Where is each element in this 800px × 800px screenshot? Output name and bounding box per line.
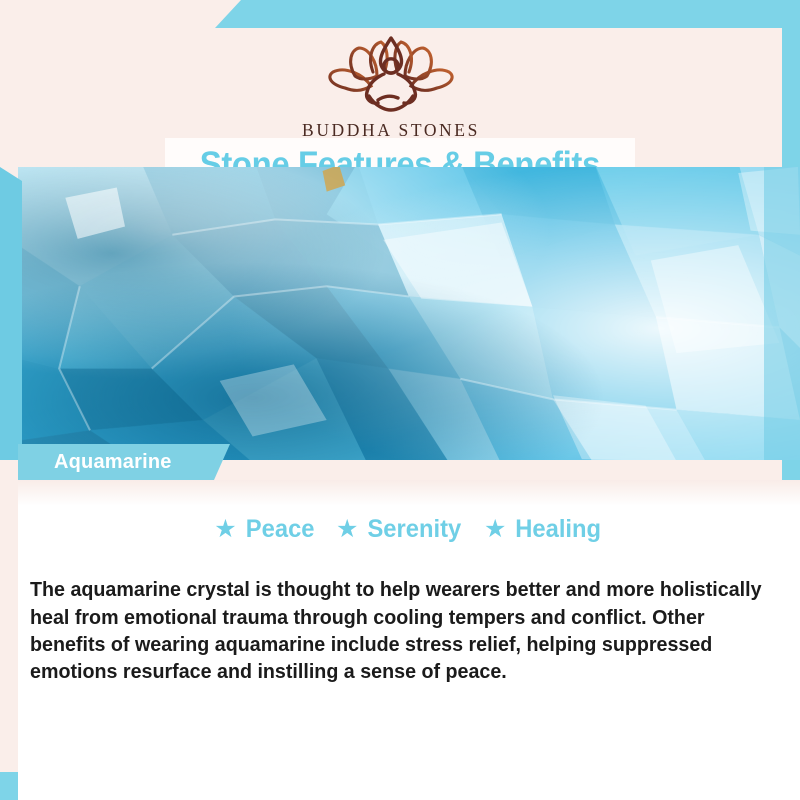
- stone-name-label: Aquamarine: [18, 451, 172, 474]
- star-icon: ★: [336, 517, 358, 542]
- keyword-label: Serenity: [368, 515, 462, 544]
- keyword-peace: ★ Peace: [214, 515, 316, 544]
- keyword-list: ★ Peace ★ Serenity ★ Healing: [18, 515, 800, 544]
- panel-top-fade: [18, 480, 800, 506]
- photo-right-accent: [764, 167, 800, 460]
- lotus-meditation-icon: [325, 32, 457, 118]
- keyword-healing: ★ Healing: [484, 515, 604, 544]
- description-panel: ★ Peace ★ Serenity ★ Healing The aquamar…: [18, 480, 800, 800]
- star-icon: ★: [214, 517, 236, 542]
- crystal-photo: [18, 167, 800, 460]
- keyword-label: Peace: [245, 515, 314, 544]
- crystal-photo-art: [18, 167, 800, 460]
- keyword-serenity: ★ Serenity: [336, 515, 464, 544]
- stone-name-tag: Aquamarine: [18, 444, 230, 480]
- frame-border-top: [215, 0, 800, 28]
- star-icon: ★: [484, 517, 506, 542]
- brand-logo: BUDDHA STONES: [0, 32, 782, 141]
- photo-left-accent: [0, 167, 22, 460]
- stone-description: The aquamarine crystal is thought to hel…: [30, 577, 763, 686]
- keyword-label: Healing: [516, 515, 602, 544]
